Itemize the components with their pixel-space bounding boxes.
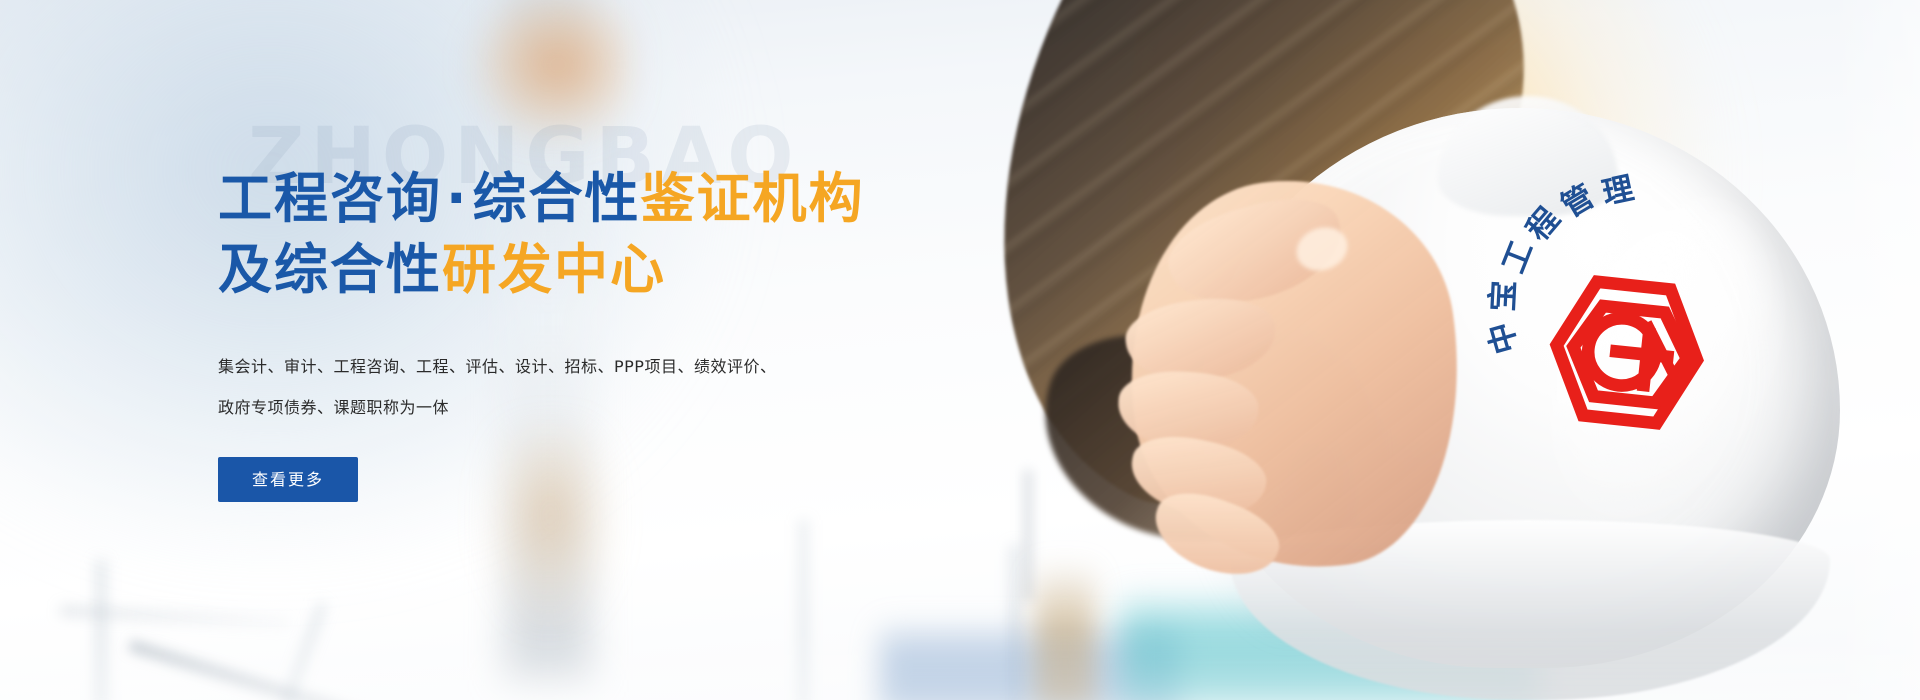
- headline-separator-dot: ·: [442, 167, 473, 230]
- headline-line-2: 及综合性研发中心: [218, 234, 1038, 305]
- logo-arc-char: 中: [1474, 318, 1526, 360]
- hero-banner: 中宝工程管理 ZHONGBAO 工程咨询·综合性鉴证机构 及综合性研发中心 集会…: [0, 0, 1920, 700]
- headline-segment-blue-2: 综合性: [473, 167, 641, 230]
- logo-arc-char: 工: [1488, 233, 1541, 278]
- headline-segment-orange-2: 研发中心: [442, 238, 666, 301]
- description-line-1: 集会计、审计、工程咨询、工程、评估、设计、招标、PPP项目、绩效评价、: [218, 346, 1038, 388]
- logo-arc-char: 程: [1513, 196, 1567, 249]
- headline-line-1: 工程咨询·综合性鉴证机构: [218, 163, 1038, 234]
- headline-segment-blue-3: 及综合性: [218, 238, 442, 301]
- view-more-button[interactable]: 查看更多: [218, 457, 358, 502]
- description-text: 集会计、审计、工程咨询、工程、评估、设计、招标、PPP项目、绩效评价、 政府专项…: [218, 306, 1038, 429]
- description-line-2: 政府专项债券、课题职称为一体: [218, 387, 1038, 429]
- headline-segment-blue: 工程咨询: [218, 167, 442, 230]
- page-title: 工程咨询·综合性鉴证机构 及综合性研发中心: [218, 118, 1038, 306]
- scaffolding-pole: [800, 520, 807, 700]
- blurred-building-tan: [1035, 560, 1095, 700]
- scaffolding-pole: [96, 560, 106, 700]
- logo-arc-text: 中宝工程管理: [1433, 133, 1851, 551]
- logo-arc-char: 宝: [1477, 280, 1523, 313]
- headline-segment-orange: 鉴证机构: [641, 167, 865, 230]
- logo-arc-char: 理: [1597, 163, 1637, 213]
- hero-content: ZHONGBAO 工程咨询·综合性鉴证机构 及综合性研发中心 集会计、审计、工程…: [218, 118, 1038, 502]
- company-logo-on-helmet: 中宝工程管理: [1433, 133, 1851, 551]
